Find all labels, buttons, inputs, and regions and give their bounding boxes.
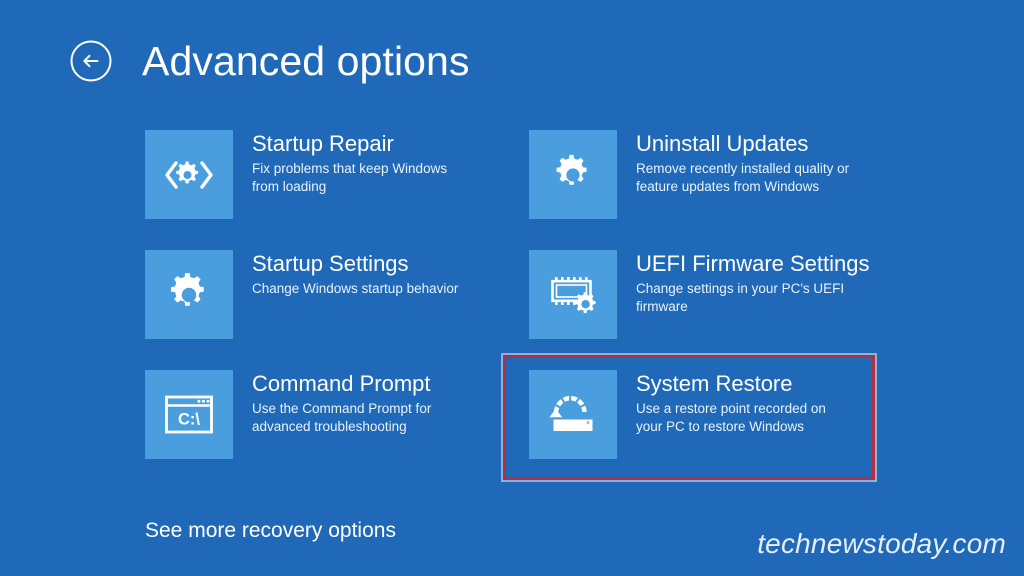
back-arrow-circle-icon[interactable] (68, 38, 114, 84)
site-watermark: technewstoday.com (757, 528, 1006, 560)
option-description: Use a restore point recorded on your PC … (636, 400, 851, 436)
option-text: Startup Settings Change Windows startup … (233, 250, 458, 298)
option-description: Change settings in your PC's UEFI firmwa… (636, 280, 851, 316)
option-description: Fix problems that keep Windows from load… (252, 160, 467, 196)
restore-arrow-drive-icon (529, 370, 617, 459)
option-title: UEFI Firmware Settings (636, 251, 870, 277)
option-system-restore[interactable]: System Restore Use a restore point recor… (529, 370, 885, 459)
page-title: Advanced options (142, 41, 470, 82)
gear-icon (145, 250, 233, 339)
option-text: UEFI Firmware Settings Change settings i… (617, 250, 870, 316)
console-window-icon: C:\ (145, 370, 233, 459)
option-title: System Restore (636, 371, 851, 397)
option-uninstall-updates[interactable]: Uninstall Updates Remove recently instal… (529, 130, 885, 219)
chip-with-gear-icon (529, 250, 617, 339)
options-grid: Startup Repair Fix problems that keep Wi… (145, 130, 885, 459)
option-startup-repair[interactable]: Startup Repair Fix problems that keep Wi… (145, 130, 501, 219)
option-text: System Restore Use a restore point recor… (617, 370, 851, 436)
gear-in-angle-brackets-icon (145, 130, 233, 219)
option-text: Startup Repair Fix problems that keep Wi… (233, 130, 467, 196)
option-text: Command Prompt Use the Command Prompt fo… (233, 370, 467, 436)
option-title: Command Prompt (252, 371, 467, 397)
option-description: Remove recently installed quality or fea… (636, 160, 851, 196)
gear-icon (529, 130, 617, 219)
option-title: Startup Settings (252, 251, 458, 277)
option-title: Startup Repair (252, 131, 467, 157)
option-uefi-firmware-settings[interactable]: UEFI Firmware Settings Change settings i… (529, 250, 885, 339)
option-title: Uninstall Updates (636, 131, 851, 157)
option-startup-settings[interactable]: Startup Settings Change Windows startup … (145, 250, 501, 339)
option-command-prompt[interactable]: C:\ Command Prompt Use the Command Promp… (145, 370, 501, 459)
see-more-recovery-options-link[interactable]: See more recovery options (145, 519, 396, 543)
console-prompt-text: C:\ (178, 410, 200, 428)
option-text: Uninstall Updates Remove recently instal… (617, 130, 851, 196)
option-description: Use the Command Prompt for advanced trou… (252, 400, 467, 436)
option-description: Change Windows startup behavior (252, 280, 458, 298)
page-header: Advanced options (68, 30, 470, 92)
advanced-options-screen: Advanced options Startup Repair (0, 0, 1024, 576)
